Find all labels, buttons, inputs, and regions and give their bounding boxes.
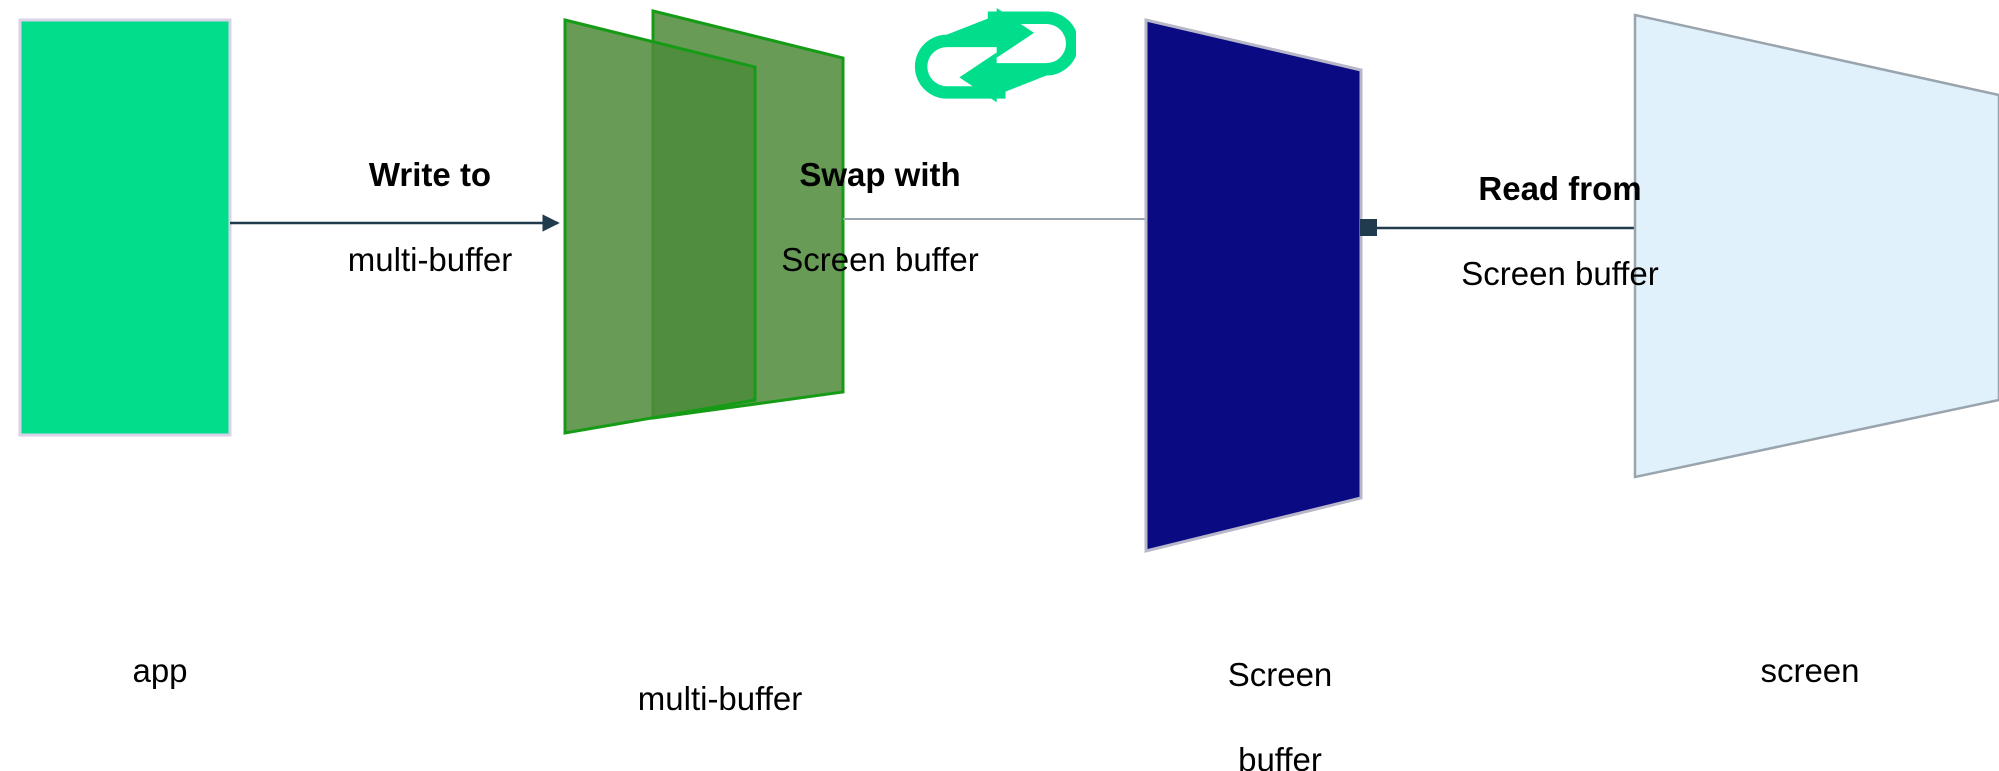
swap-repeat-icon (896, 8, 1076, 104)
node-label-screen-buffer-line1: Screen (1130, 654, 1430, 696)
edge-label-write-to-line1: Write to (250, 154, 610, 196)
node-app[interactable] (20, 20, 230, 435)
edge-label-swap-with: Swap with Screen buffer (700, 112, 1060, 323)
edge-label-read-from-line1: Read from (1400, 168, 1720, 210)
node-label-screen-line1: screen (1660, 650, 1960, 692)
edge-label-read-from-line2: Screen buffer (1400, 253, 1720, 295)
edge-label-swap-with-line1: Swap with (700, 154, 1060, 196)
screen-buffer-trapezoid[interactable] (1146, 20, 1361, 551)
node-label-screen: screen (1660, 608, 1960, 735)
node-label-screen-buffer: Screen buffer (memory) (1130, 612, 1430, 771)
node-label-multi-buffer-line2: (memory) (540, 763, 900, 771)
node-label-screen-buffer-line2: buffer (1130, 739, 1430, 771)
diagram-canvas: Write to multi-buffer Swap with Screen b… (0, 0, 1999, 771)
swap-repeat-icon-glyph (896, 8, 1076, 104)
node-label-multi-buffer-line1: multi-buffer (540, 678, 900, 720)
app-rectangle[interactable] (20, 20, 230, 435)
node-label-app-line1: app (20, 650, 300, 692)
edge-label-swap-with-line2: Screen buffer (700, 239, 1060, 281)
edge-label-write-to: Write to multi-buffer (250, 112, 610, 323)
edge-label-read-from: Read from Screen buffer (1400, 126, 1720, 337)
node-label-multi-buffer: multi-buffer (memory) (540, 636, 900, 771)
node-screen-buffer[interactable] (1146, 20, 1361, 551)
node-label-app: app (20, 608, 300, 735)
edge-label-write-to-line2: multi-buffer (250, 239, 610, 281)
